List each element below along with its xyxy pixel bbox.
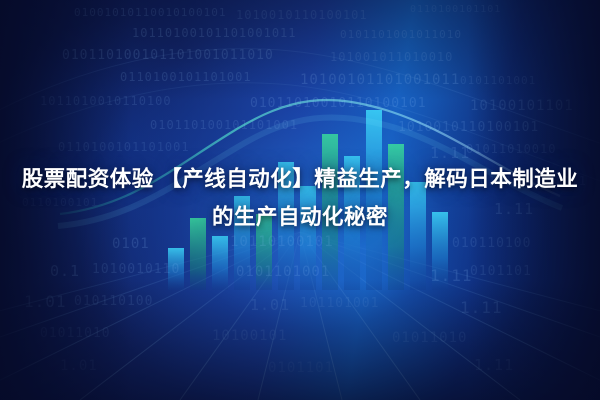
headline-text: 股票配资体验 【产线自动化】精益生产，解码日本制造业的生产自动化秘密	[0, 160, 600, 236]
image-canvas: 01001010110010100101 1010010110100101 01…	[0, 0, 600, 400]
